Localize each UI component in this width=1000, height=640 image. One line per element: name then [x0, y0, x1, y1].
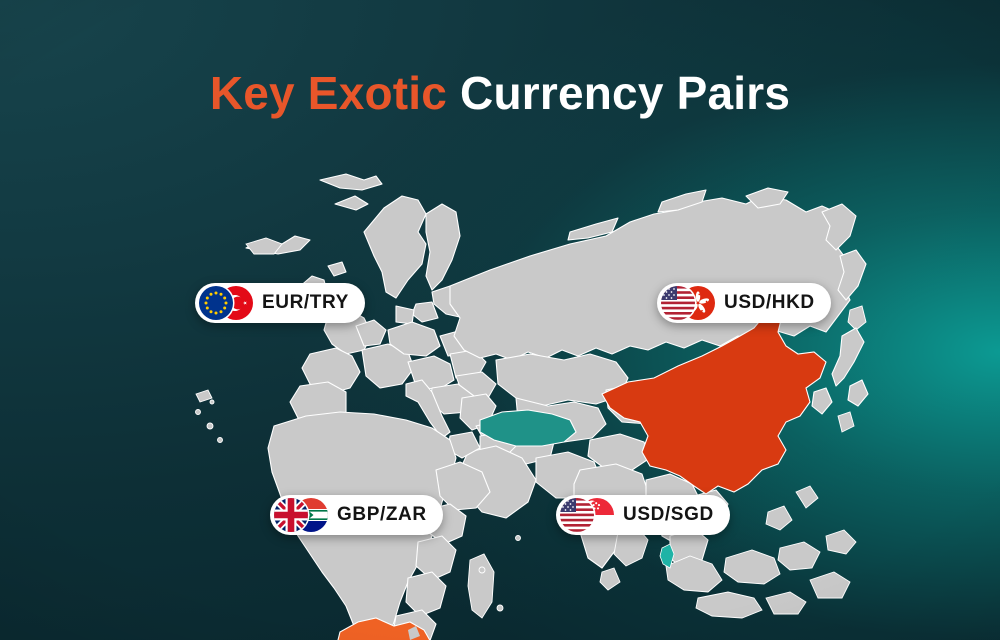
pair-label: USD/SGD: [623, 504, 714, 526]
currency-pair-gbp-zar[interactable]: GBP/ZAR: [270, 495, 443, 535]
usa-flag-icon: [560, 498, 594, 532]
region-russia: [450, 188, 866, 360]
page-title: Key Exotic Currency Pairs: [0, 68, 1000, 119]
eu-flag-icon: [199, 286, 233, 320]
uk-flag-svg: [274, 498, 308, 532]
currency-pair-usd-hkd[interactable]: USD/HKD: [657, 283, 831, 323]
currency-pair-eur-try[interactable]: EUR/TRY: [195, 283, 365, 323]
uk-flag-icon: [274, 498, 308, 532]
poster-canvas: Key Exotic Currency Pairs .land { fill:#…: [0, 0, 1000, 640]
pair-label: EUR/TRY: [262, 292, 349, 314]
usa-flag-svg: [560, 498, 594, 532]
pair-label: USD/HKD: [724, 292, 815, 314]
region-east-asia: [812, 328, 868, 432]
world-map-svg: .land { fill:#c9c9c9; stroke:#ffffff; st…: [150, 140, 870, 640]
currency-pair-usd-sgd[interactable]: USD/SGD: [556, 495, 730, 535]
flag-pair: [274, 498, 328, 532]
page-title-accent: Key Exotic: [210, 67, 447, 119]
usa-flag-icon: [661, 286, 695, 320]
flag-pair: [661, 286, 715, 320]
world-map: .land { fill:#c9c9c9; stroke:#ffffff; st…: [150, 140, 870, 640]
flag-pair: [560, 498, 614, 532]
pair-label: GBP/ZAR: [337, 504, 427, 526]
eu-flag-svg: [199, 286, 233, 320]
usa-flag-svg: [661, 286, 695, 320]
page-title-plain: Currency Pairs: [460, 67, 790, 119]
flag-pair: [199, 286, 253, 320]
